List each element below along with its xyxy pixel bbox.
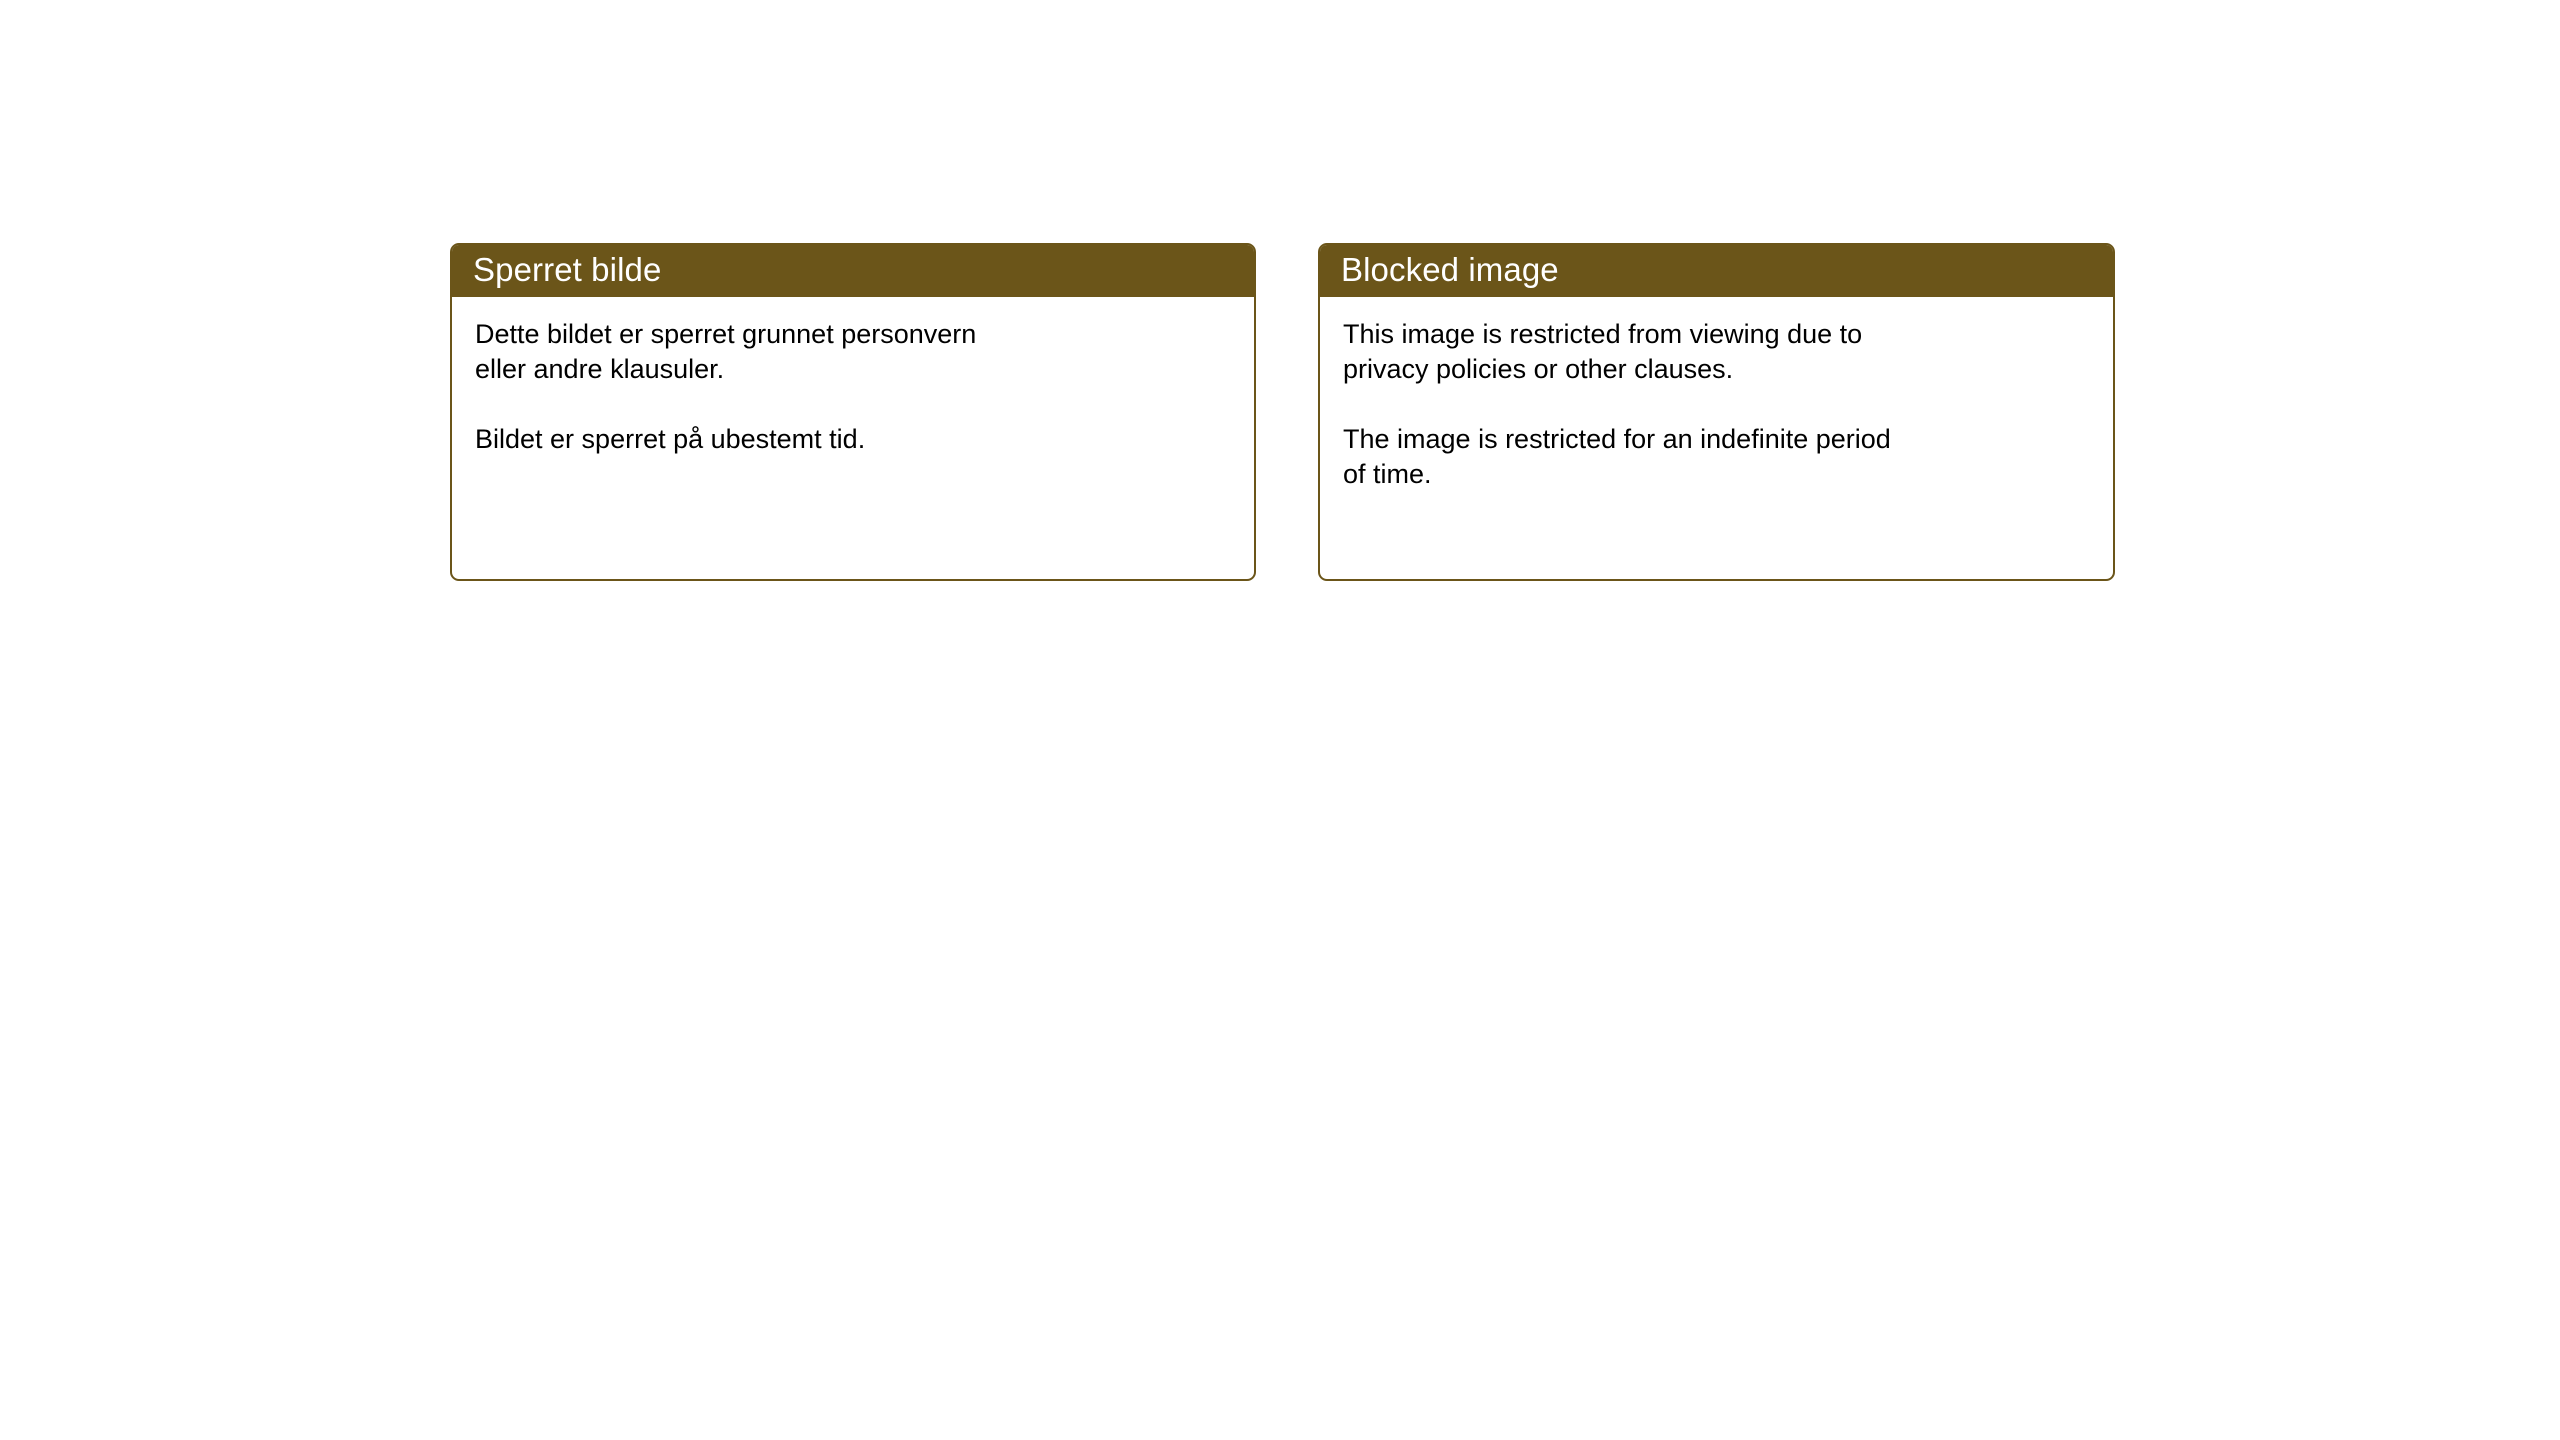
card-title-english: Blocked image	[1341, 253, 1559, 286]
blocked-image-notice-card-norwegian: Sperret bilde Dette bildet er sperret gr…	[450, 243, 1256, 581]
card-body-english: This image is restricted from viewing du…	[1320, 297, 2113, 492]
card-paragraph-privacy-reason-english: This image is restricted from viewing du…	[1343, 317, 2091, 387]
card-header-english: Blocked image	[1318, 243, 2115, 297]
blocked-image-notice-card-english: Blocked image This image is restricted f…	[1318, 243, 2115, 581]
card-header-norwegian: Sperret bilde	[450, 243, 1256, 297]
card-paragraph-privacy-reason-norwegian: Dette bildet er sperret grunnet personve…	[475, 317, 1232, 387]
card-body-norwegian: Dette bildet er sperret grunnet personve…	[452, 297, 1254, 457]
card-paragraph-duration-norwegian: Bildet er sperret på ubestemt tid.	[475, 422, 1232, 457]
page-root: Sperret bilde Dette bildet er sperret gr…	[0, 0, 2560, 1440]
card-title-norwegian: Sperret bilde	[473, 253, 661, 286]
card-paragraph-duration-english: The image is restricted for an indefinit…	[1343, 422, 2091, 492]
